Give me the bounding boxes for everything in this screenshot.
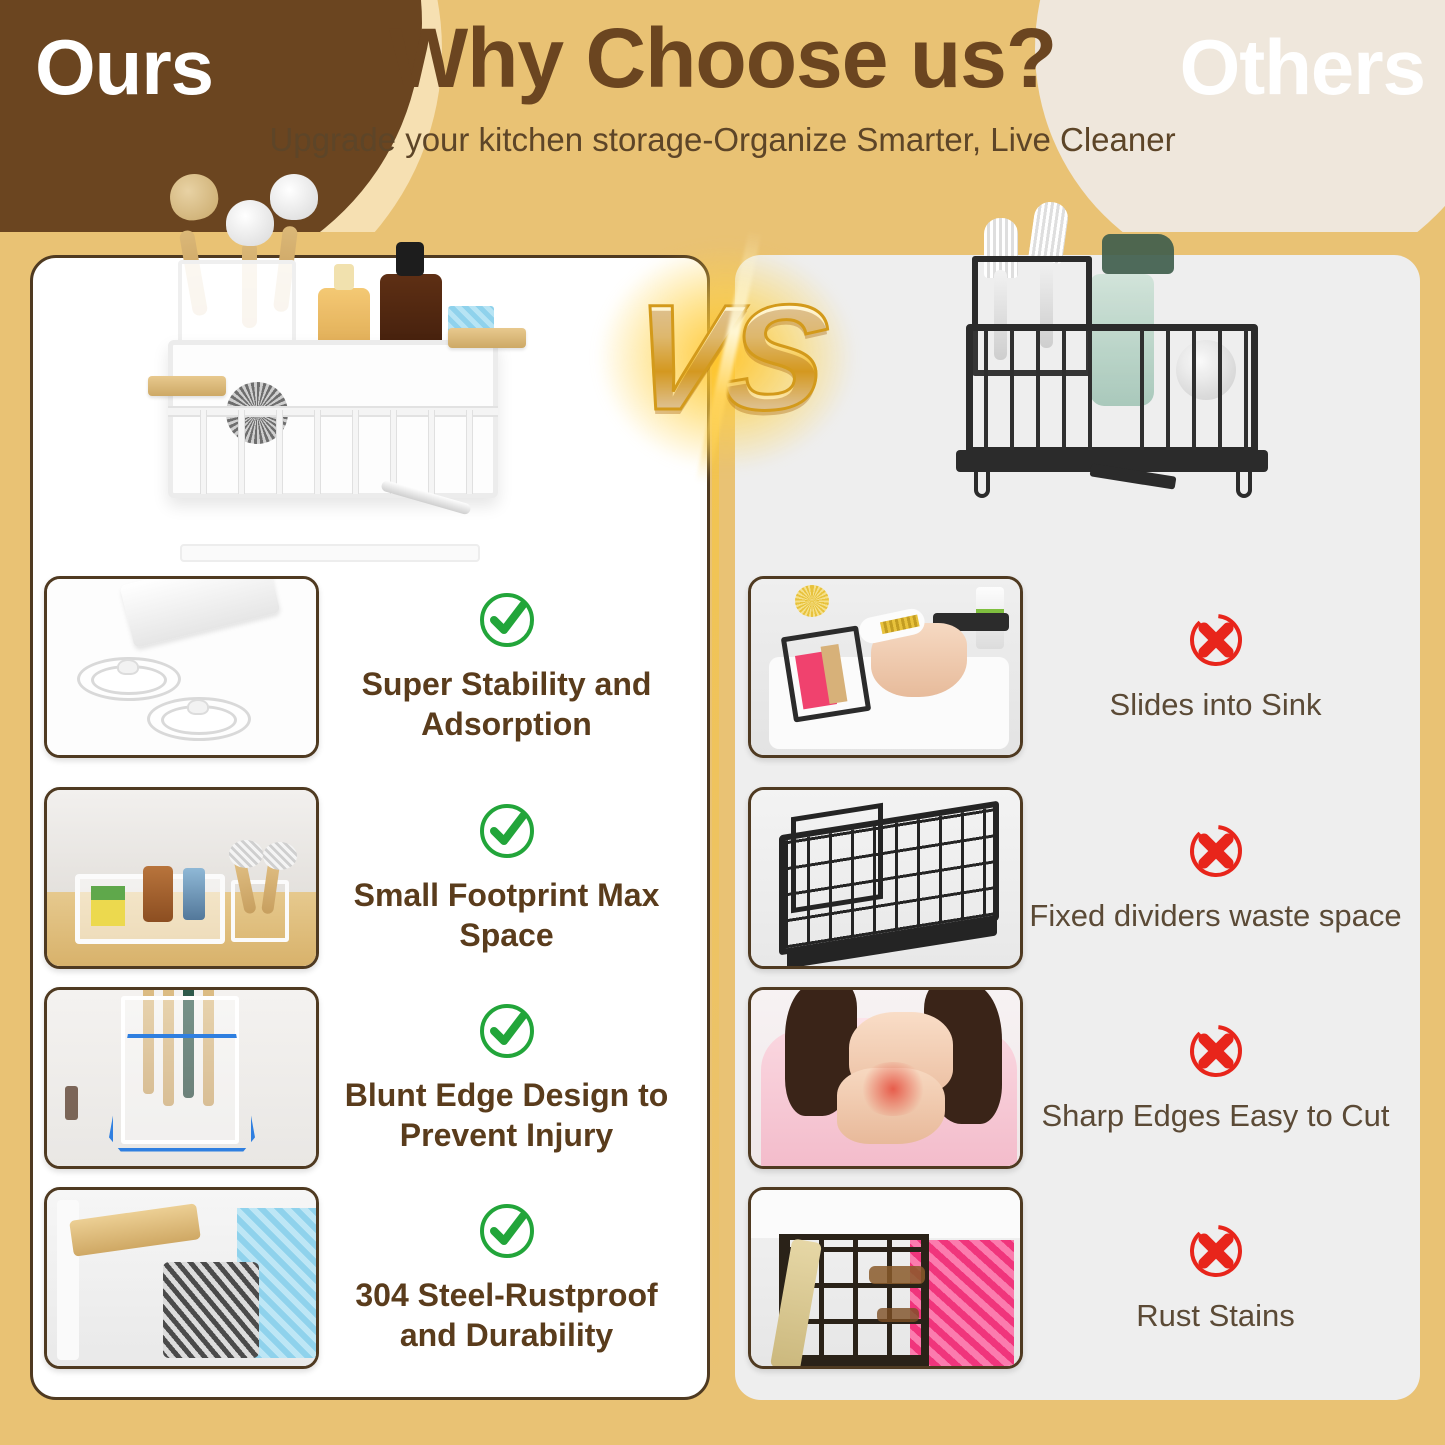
others-feature-text: Slides into Sink: [1023, 609, 1408, 725]
pain-highlight: [857, 1062, 929, 1116]
basket-foot: [974, 470, 990, 498]
ours-feature-text: Small Footprint Max Space: [319, 800, 694, 955]
ours-thumb-304-steel: [44, 1187, 319, 1369]
cross-circle-icon: [1185, 1020, 1247, 1082]
wood-handle: [448, 328, 526, 348]
wire-bar: [1218, 330, 1222, 454]
caddy-slat: [200, 410, 207, 494]
feature-label: Fixed dividers waste space: [1029, 896, 1402, 936]
soap-bottle: [143, 866, 173, 922]
check-circle-icon: [476, 1000, 538, 1062]
sink-edge: [751, 1190, 1020, 1238]
caddy-slat: [238, 410, 245, 494]
thumb-art: [47, 1190, 316, 1366]
wood-handle: [69, 1203, 201, 1256]
yellow-brush-head: [795, 585, 829, 617]
brush-head-icon: [229, 840, 263, 868]
brush-head-icon: [263, 842, 297, 870]
suction-cup-nub: [117, 659, 139, 675]
feature-label: Slides into Sink: [1029, 685, 1402, 725]
page-subtitle: Upgrade your kitchen storage-Organize Sm…: [0, 118, 1445, 163]
cross-circle-icon: [1185, 820, 1247, 882]
thumb-art: [751, 990, 1020, 1166]
wire-bar: [984, 330, 988, 454]
wire-bar: [1062, 330, 1066, 454]
feature-label: Small Footprint Max Space: [325, 876, 688, 955]
caddy-slat: [352, 410, 359, 494]
caddy-underside: [119, 576, 280, 648]
others-thumb-slides-into-sink: [748, 576, 1023, 758]
wire-bar: [1166, 330, 1170, 454]
ours-thumb-suction-cups: [44, 576, 319, 758]
others-feature-row: Slides into Sink: [748, 574, 1408, 759]
others-feature-row: Rust Stains: [748, 1185, 1408, 1370]
others-thumb-sharp-edges: [748, 987, 1023, 1169]
ours-feature-text: 304 Steel-Rustproof and Durability: [319, 1200, 694, 1355]
ours-feature-row: Blunt Edge Design to Prevent Injury: [44, 985, 694, 1170]
thumb-art: [751, 579, 1020, 755]
feature-label: Sharp Edges Easy to Cut: [1029, 1096, 1402, 1136]
ours-feature-row: Super Stability and Adsorption: [44, 574, 694, 759]
thumb-art: [47, 990, 316, 1166]
caddy-slat: [314, 410, 321, 494]
feature-label: 304 Steel-Rustproof and Durability: [325, 1276, 688, 1355]
steel-scrubber: [163, 1262, 259, 1358]
others-feature-row: Sharp Edges Easy to Cut: [748, 985, 1408, 1170]
background-bottle: [65, 1086, 78, 1120]
check-circle-icon: [476, 589, 538, 651]
others-thumb-fixed-dividers: [748, 787, 1023, 969]
feature-label: Rust Stains: [1029, 1296, 1402, 1336]
ours-thumb-blunt-edge: [44, 987, 319, 1169]
thumb-art: [47, 790, 316, 966]
feature-label: Blunt Edge Design to Prevent Injury: [325, 1076, 688, 1155]
fixed-divider: [791, 802, 883, 913]
caddy-frame: [168, 340, 498, 498]
page-title: Why Choose us?: [0, 10, 1445, 107]
others-feature-text: Fixed dividers waste space: [1023, 820, 1408, 936]
vs-badge: VS: [576, 222, 876, 492]
caddy-rail: [168, 406, 498, 417]
blue-highlight-outline: [109, 1034, 255, 1152]
rust-stain: [877, 1308, 919, 1322]
caddy-slat: [276, 410, 283, 494]
wire-bar: [1010, 330, 1014, 454]
ours-feature-text: Super Stability and Adsorption: [319, 589, 694, 744]
ours-feature-row: 304 Steel-Rustproof and Durability: [44, 1185, 694, 1370]
brush-head-icon: [226, 200, 274, 246]
caddy-slat: [466, 410, 473, 494]
wood-handle: [148, 376, 226, 396]
rust-stain: [869, 1266, 925, 1284]
basket-foot: [1236, 470, 1252, 498]
green-scrub-pad: [91, 886, 125, 900]
others-thumb-rust-stains: [748, 1187, 1023, 1369]
check-circle-icon: [476, 1200, 538, 1262]
spray-bottle: [183, 868, 205, 920]
thumb-art: [751, 790, 1020, 966]
wire-bar: [1036, 330, 1040, 454]
check-circle-icon: [476, 800, 538, 862]
wire-bar: [1088, 330, 1092, 454]
ours-feature-row: Small Footprint Max Space: [44, 785, 694, 970]
thumb-art: [751, 1190, 1020, 1366]
wire-bar: [1140, 330, 1144, 454]
cross-circle-icon: [1185, 609, 1247, 671]
wire-bar: [1244, 330, 1248, 454]
caddy-base: [180, 544, 480, 562]
caddy-slat: [428, 410, 435, 494]
cross-circle-icon: [1185, 1220, 1247, 1282]
others-feature-row: Fixed dividers waste space: [748, 785, 1408, 970]
wire-bar: [1192, 330, 1196, 454]
others-feature-text: Sharp Edges Easy to Cut: [1023, 1020, 1408, 1136]
feature-label: Super Stability and Adsorption: [325, 665, 688, 744]
ours-hero-product: HANDLOTION: [130, 236, 550, 546]
brush-head-icon: [270, 174, 318, 220]
others-feature-text: Rust Stains: [1023, 1220, 1408, 1336]
ours-thumb-small-footprint: [44, 787, 319, 969]
suction-cup-nub: [187, 699, 209, 715]
thumb-art: [47, 579, 316, 755]
ours-feature-text: Blunt Edge Design to Prevent Injury: [319, 1000, 694, 1155]
others-hero-product: [940, 212, 1280, 532]
